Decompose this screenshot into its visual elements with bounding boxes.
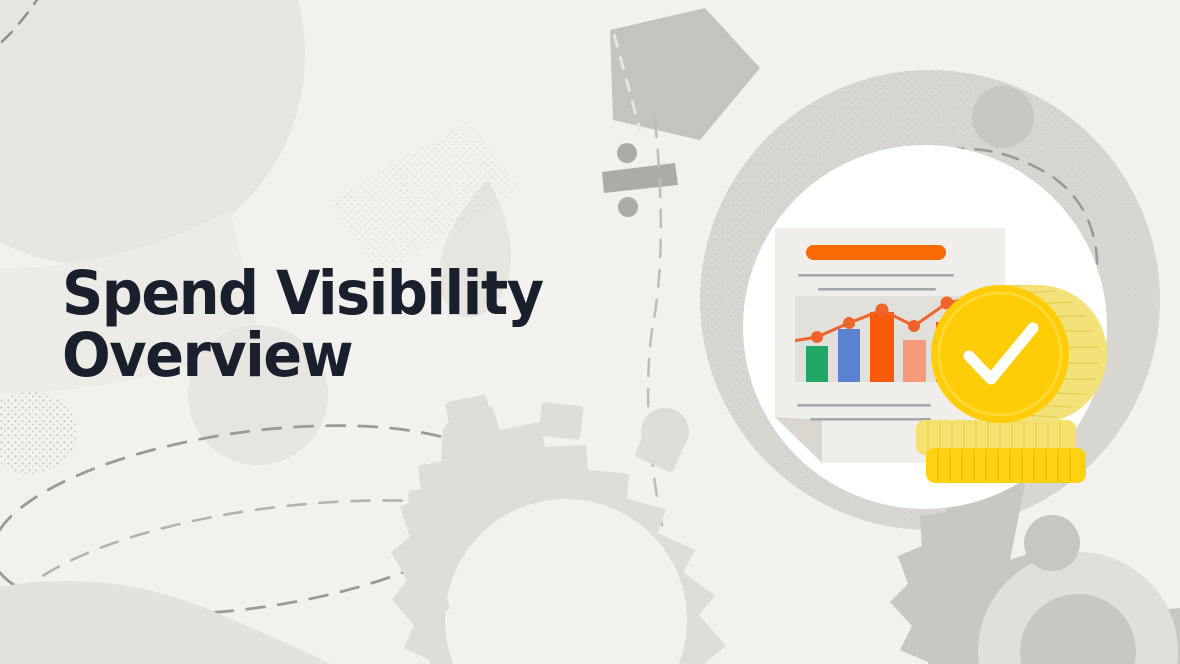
slide-canvas: Spend Visibility Overview <box>0 0 1180 664</box>
coin-face <box>931 285 1069 423</box>
document-folded-corner <box>775 417 822 463</box>
page-title: Spend Visibility Overview <box>62 263 622 387</box>
bar-2 <box>838 329 860 382</box>
page-title-line-1: Spend Visibility <box>62 263 588 325</box>
bar-4 <box>903 340 926 382</box>
trend-marker-1 <box>811 331 823 343</box>
verified-coin <box>931 285 1107 423</box>
document-text-line-3 <box>797 404 931 407</box>
document-text-line-1 <box>798 274 954 277</box>
trend-marker-4 <box>908 320 920 332</box>
bar-3 <box>870 312 894 382</box>
coin-stack-lower <box>926 448 1086 483</box>
document-header-bar <box>806 245 946 260</box>
trend-marker-2 <box>843 317 855 329</box>
bar-1 <box>806 346 828 382</box>
document-text-line-4 <box>810 418 931 421</box>
page-title-line-2: Overview <box>62 325 588 387</box>
document-text-line-2 <box>818 288 936 291</box>
trend-marker-3 <box>876 304 889 317</box>
